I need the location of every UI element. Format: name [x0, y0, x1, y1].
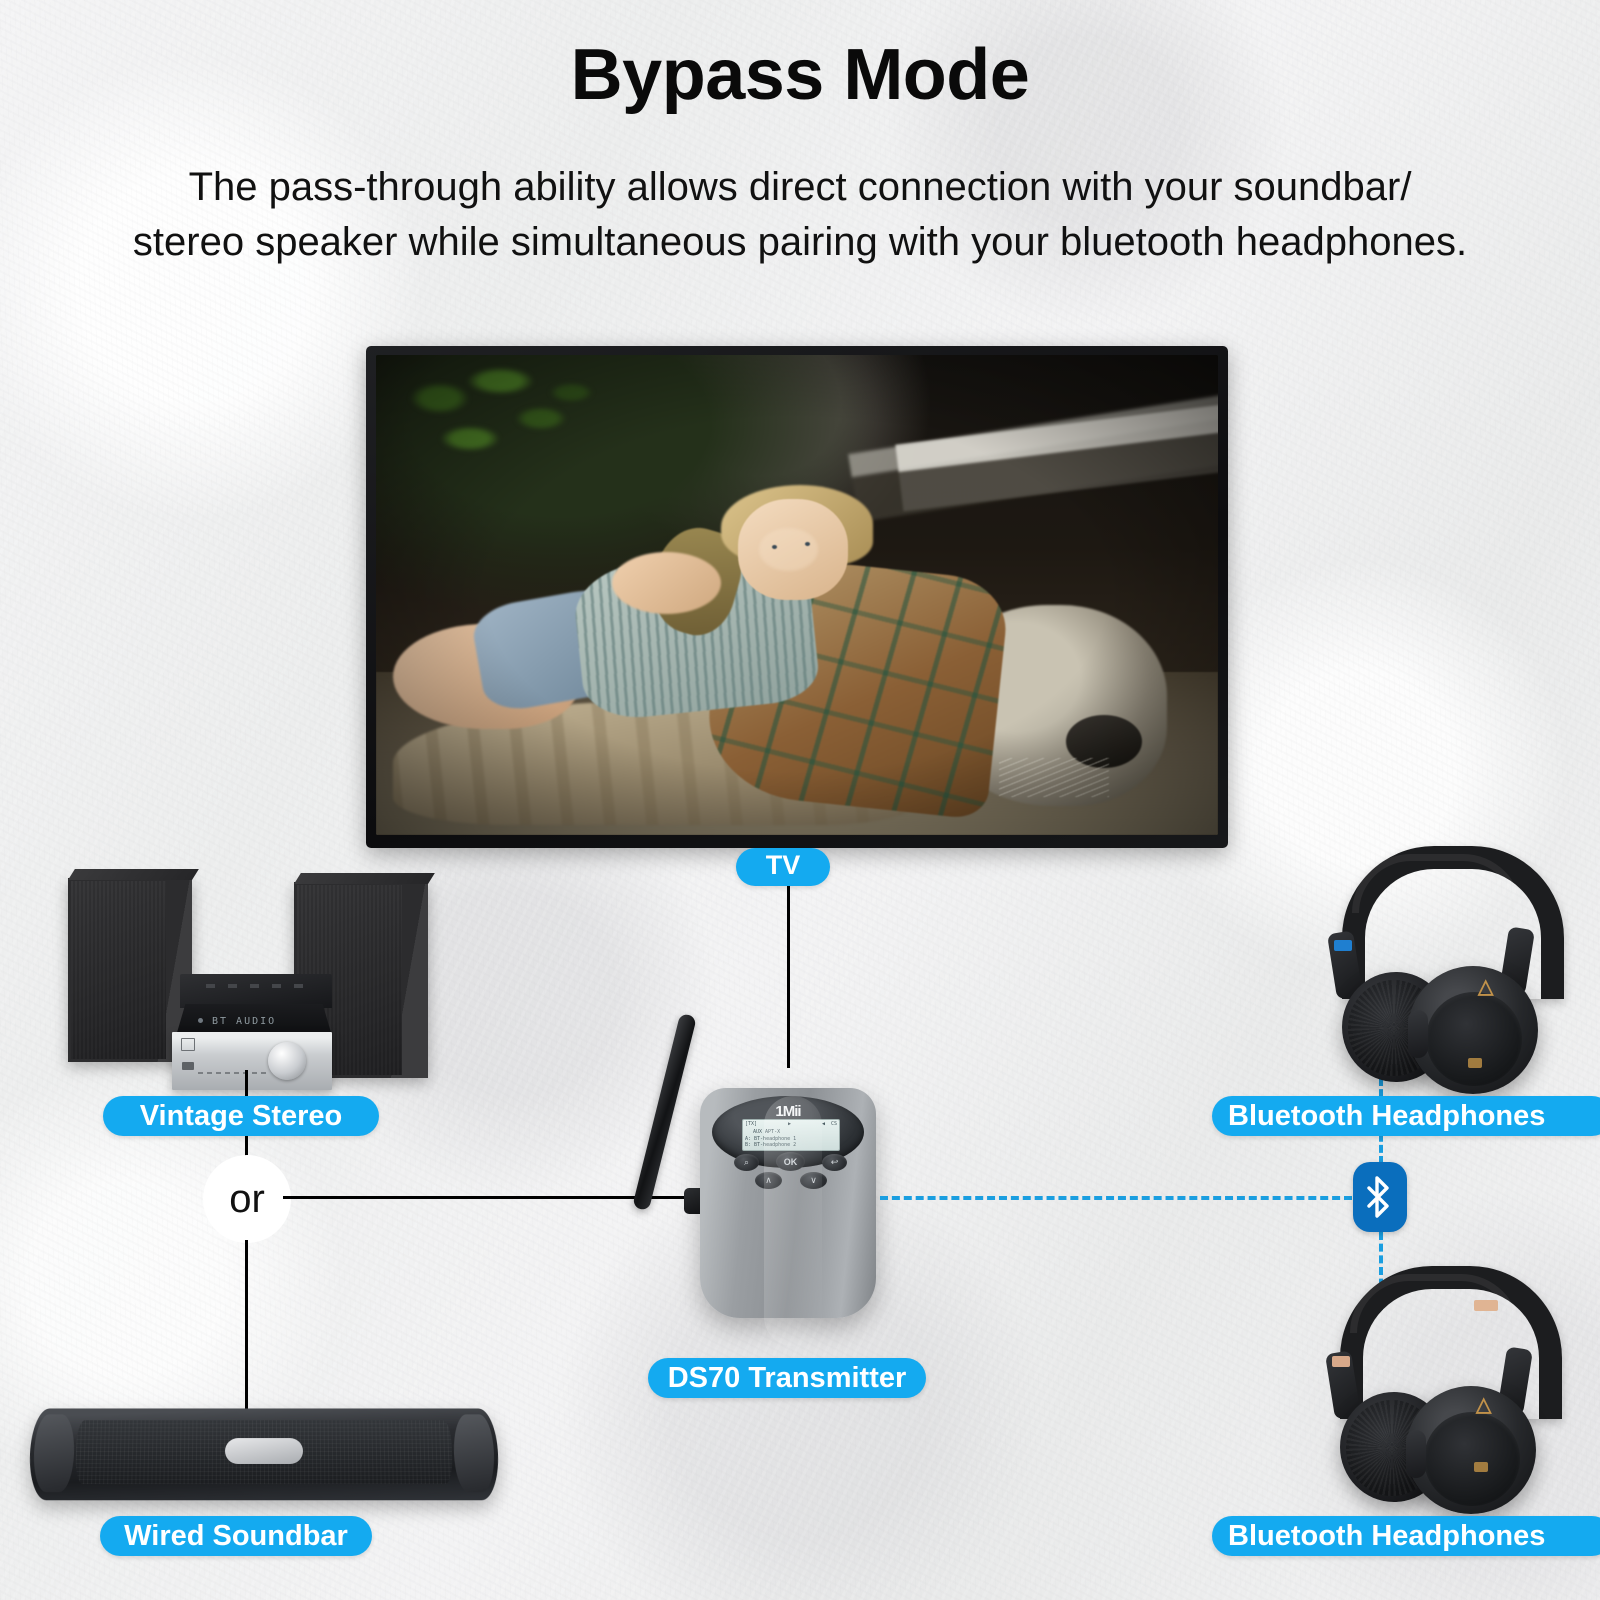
up-button[interactable]: ∧: [755, 1172, 782, 1189]
label-ds70-transmitter: DS70 Transmitter: [648, 1358, 926, 1398]
vintage-stereo-device: BT AUDIO: [68, 878, 428, 1090]
down-button[interactable]: ∨: [800, 1172, 827, 1189]
label-tv: TV: [736, 848, 830, 886]
label-bluetooth-headphones-top: Bluetooth Headphones: [1212, 1096, 1600, 1136]
stereo-display-text: BT AUDIO: [212, 1016, 276, 1027]
wired-soundbar-device: [30, 1408, 498, 1500]
bt-link-transmitter-to-badge: [880, 1196, 1352, 1200]
earcup-control-button[interactable]: [1406, 1430, 1426, 1478]
infographic-canvas: Bypass Mode The pass-through ability all…: [0, 0, 1600, 1600]
stereo-hifi-unit: BT AUDIO: [172, 974, 332, 1090]
soundbar-center-plate: [225, 1438, 303, 1464]
lcd-status-right: ◀ CS: [822, 1121, 837, 1127]
subtitle-line-2: stereo speaker while simultaneous pairin…: [40, 215, 1560, 270]
brand-mark-icon: △: [1478, 974, 1493, 999]
antenna: [632, 1013, 697, 1211]
ok-button[interactable]: OK: [776, 1152, 805, 1171]
transmitter-body: 1Mii [TX] ▶ ◀ CS AUX APT-X A: BT-headpho…: [700, 1088, 876, 1318]
lcd-source-line: AUX APT-X: [753, 1129, 780, 1135]
connector-or-to-soundbar: [245, 1240, 248, 1410]
volume-knob[interactable]: [268, 1042, 306, 1080]
bluetooth-icon: [1353, 1162, 1407, 1232]
back-button[interactable]: ↩: [822, 1154, 847, 1171]
soundbar-body: [28, 1408, 500, 1500]
brand-logo: 1Mii: [712, 1103, 864, 1120]
lcd-screen: [TX] ▶ ◀ CS AUX APT-X A: BT-headphone 1 …: [742, 1119, 840, 1151]
tv-screen: [376, 355, 1218, 835]
ds70-transmitter-device: 1Mii [TX] ▶ ◀ CS AUX APT-X A: BT-headpho…: [700, 1060, 876, 1318]
label-wired-soundbar: Wired Soundbar: [100, 1516, 372, 1556]
usb-port-icon: [182, 1062, 194, 1070]
tv-scene-image: [376, 355, 1218, 835]
brand-mark-icon: △: [1476, 1392, 1491, 1417]
label-bluetooth-headphones-bottom: Bluetooth Headphones: [1212, 1516, 1600, 1556]
subtitle-line-1: The pass-through ability allows direct c…: [40, 160, 1560, 215]
bluetooth-headphones-top-device: △: [1290, 846, 1570, 1096]
earcup-control-button[interactable]: [1408, 1010, 1428, 1058]
search-button[interactable]: ⌕: [734, 1154, 759, 1171]
transmitter-top-panel: 1Mii [TX] ▶ ◀ CS AUX APT-X A: BT-headpho…: [712, 1096, 864, 1168]
page-title: Bypass Mode: [0, 34, 1600, 116]
lcd-status-center: ▶: [788, 1121, 791, 1127]
bluetooth-headphones-bottom-device: △: [1288, 1266, 1568, 1516]
label-vintage-stereo: Vintage Stereo: [103, 1096, 379, 1136]
lcd-status-left: [TX]: [745, 1121, 757, 1127]
page-subtitle: The pass-through ability allows direct c…: [40, 160, 1560, 270]
tv-device: [366, 346, 1228, 848]
lcd-device-b-line: B: BT-headphone 2: [745, 1142, 796, 1148]
or-node: or: [203, 1155, 291, 1243]
